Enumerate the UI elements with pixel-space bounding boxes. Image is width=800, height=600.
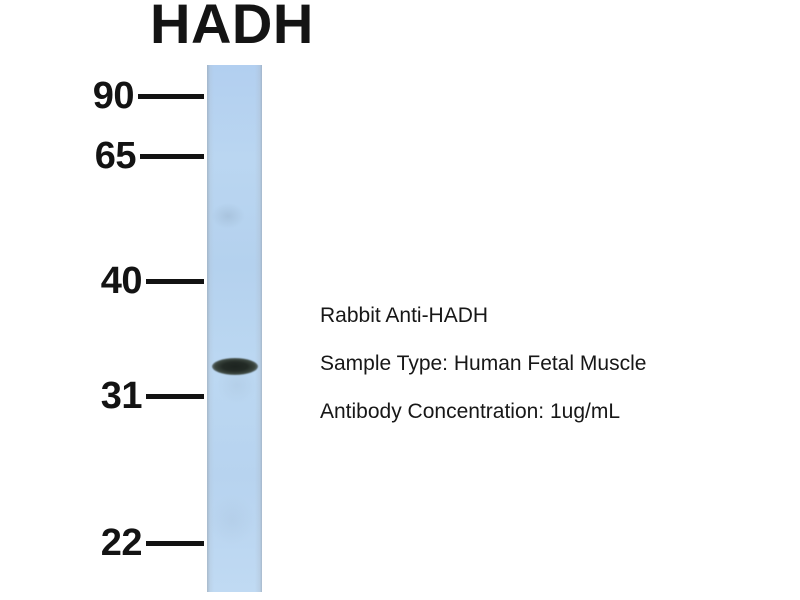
western-blot-figure: HADH 90 65 40 31 22 Rabbit Anti-HADH Sam… <box>0 0 800 600</box>
annotation-sample-type: Sample Type: Human Fetal Muscle <box>320 351 750 377</box>
mw-marker-40: 40 <box>80 259 204 303</box>
mw-marker-65: 65 <box>74 134 204 178</box>
page-title: HADH <box>150 0 314 52</box>
lane-artifact-smudge <box>211 203 245 229</box>
mw-marker-label: 65 <box>74 137 136 175</box>
mw-marker-22: 22 <box>80 521 204 565</box>
mw-marker-label: 31 <box>80 377 142 415</box>
gel-lane <box>207 65 262 592</box>
mw-tick-line <box>140 154 204 159</box>
protein-band <box>212 358 258 375</box>
mw-marker-label: 90 <box>72 77 134 115</box>
annotation-block: Rabbit Anti-HADH Sample Type: Human Feta… <box>320 303 750 425</box>
mw-tick-line <box>146 279 204 284</box>
mw-marker-90: 90 <box>72 74 204 118</box>
mw-marker-label: 40 <box>80 262 142 300</box>
mw-tick-line <box>146 394 204 399</box>
lane-artifact-smudge <box>209 495 255 545</box>
annotation-antibody-concentration: Antibody Concentration: 1ug/mL <box>320 399 750 425</box>
mw-tick-line <box>138 94 204 99</box>
mw-marker-label: 22 <box>80 524 142 562</box>
mw-tick-line <box>146 541 204 546</box>
mw-marker-31: 31 <box>80 374 204 418</box>
annotation-antibody: Rabbit Anti-HADH <box>320 303 750 329</box>
